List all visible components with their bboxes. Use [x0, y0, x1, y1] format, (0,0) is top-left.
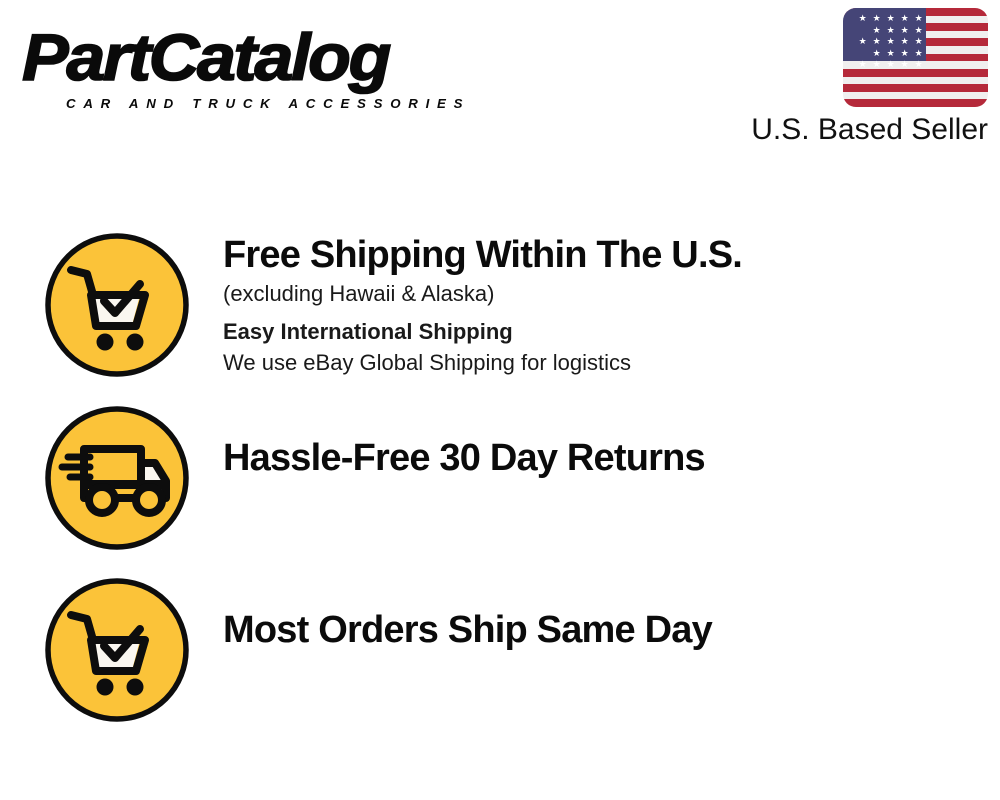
feature-title: Hassle-Free 30 Day Returns: [223, 435, 705, 481]
us-based-seller-label: U.S. Based Seller: [708, 113, 988, 147]
feature-text-block: Most Orders Ship Same Day: [223, 577, 712, 653]
brand-logo[interactable]: PartCatalog CAR AND TRUCK ACCESSORIES: [22, 22, 492, 114]
feature-title: Most Orders Ship Same Day: [223, 607, 712, 653]
feature-row: Free Shipping Within The U.S. (excluding…: [44, 232, 742, 378]
feature-sub-detail: We use eBay Global Shipping for logistic…: [223, 347, 742, 378]
feature-text-block: Free Shipping Within The U.S. (excluding…: [223, 232, 742, 378]
page-header: PartCatalog CAR AND TRUCK ACCESSORIES ★★…: [0, 0, 1000, 170]
us-flag-icon: ★★★★★ ★★★★ ★★★★★ ★★★★ ★★★★★: [843, 8, 988, 107]
delivery-truck-icon: [44, 405, 190, 551]
feature-text-block: Hassle-Free 30 Day Returns: [223, 405, 705, 481]
feature-row: Most Orders Ship Same Day: [44, 577, 712, 723]
shopping-cart-check-icon: [44, 577, 190, 723]
feature-subtitle: (excluding Hawaii & Alaska): [223, 278, 742, 309]
us-based-seller-badge: ★★★★★ ★★★★ ★★★★★ ★★★★ ★★★★★ U.S. Based S…: [708, 8, 988, 147]
brand-wordmark: PartCatalog: [22, 22, 389, 92]
flag-stars: ★★★★★ ★★★★ ★★★★★ ★★★★ ★★★★★: [843, 8, 926, 61]
brand-tagline: CAR AND TRUCK ACCESSORIES: [66, 96, 470, 111]
feature-sub-heading: Easy International Shipping: [223, 316, 742, 347]
feature-title: Free Shipping Within The U.S.: [223, 232, 742, 278]
shopping-cart-check-icon: [44, 232, 190, 378]
feature-row: Hassle-Free 30 Day Returns: [44, 405, 705, 551]
